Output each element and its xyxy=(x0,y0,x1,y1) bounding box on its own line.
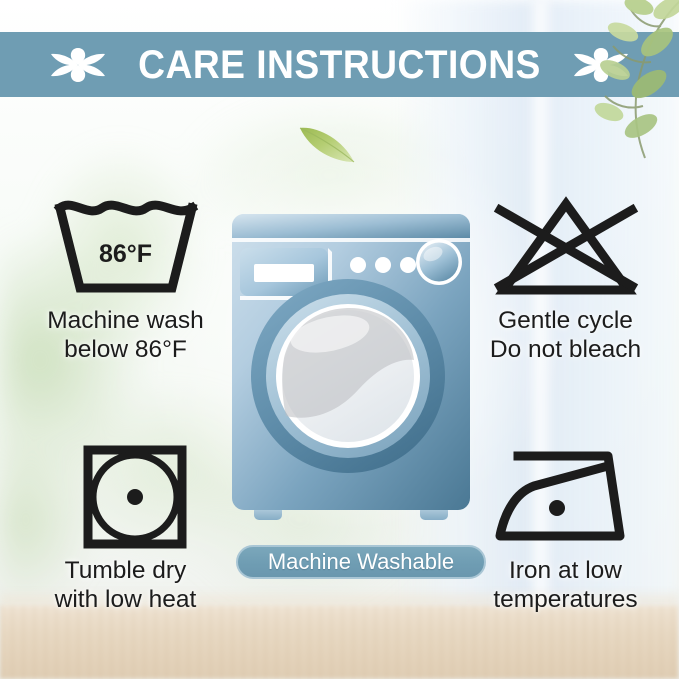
wooden-table-surface xyxy=(0,605,679,679)
care-symbol-do-not-bleach: Gentle cycle Do not bleach xyxy=(458,194,673,364)
care-symbol-machine-wash: 86°F Machine wash below 86°F xyxy=(18,194,233,364)
badge-label: Machine Washable xyxy=(268,551,454,573)
machine-washable-badge: Machine Washable xyxy=(236,545,486,579)
wash-tub-icon-wrap: 86°F xyxy=(46,194,206,299)
wash-temperature-value: 86°F xyxy=(46,240,206,269)
program-knob xyxy=(416,239,462,285)
care-symbol-caption: Iron at low temperatures xyxy=(493,557,637,614)
crossed-triangle-icon-wrap xyxy=(486,194,646,299)
crossed-triangle-icon xyxy=(486,194,646,299)
washing-machine-illustration xyxy=(226,208,476,528)
tumble-dry-square-icon xyxy=(46,444,206,549)
iron-icon-wrap xyxy=(486,444,646,549)
care-symbol-caption: Tumble dry with low heat xyxy=(55,557,197,614)
fleur-de-lis-ornament-left-icon xyxy=(49,42,107,88)
care-symbol-iron: Iron at low temperatures xyxy=(458,444,673,614)
machine-top-lid xyxy=(232,214,470,238)
page-title: CARE INSTRUCTIONS xyxy=(138,45,541,85)
care-instructions-infographic: CARE INSTRUCTIONS xyxy=(0,0,679,679)
care-symbol-tumble-dry: Tumble dry with low heat xyxy=(18,444,233,614)
tumble-dry-square-icon-wrap xyxy=(46,444,206,549)
machine-door xyxy=(251,279,445,473)
care-symbol-caption: Gentle cycle Do not bleach xyxy=(490,307,641,364)
plant-branch-icon xyxy=(565,0,679,162)
care-symbol-caption: Machine wash below 86°F xyxy=(47,307,204,364)
control-indicator-dots xyxy=(350,257,416,273)
leaf-icon xyxy=(296,118,358,168)
iron-icon xyxy=(486,444,646,549)
